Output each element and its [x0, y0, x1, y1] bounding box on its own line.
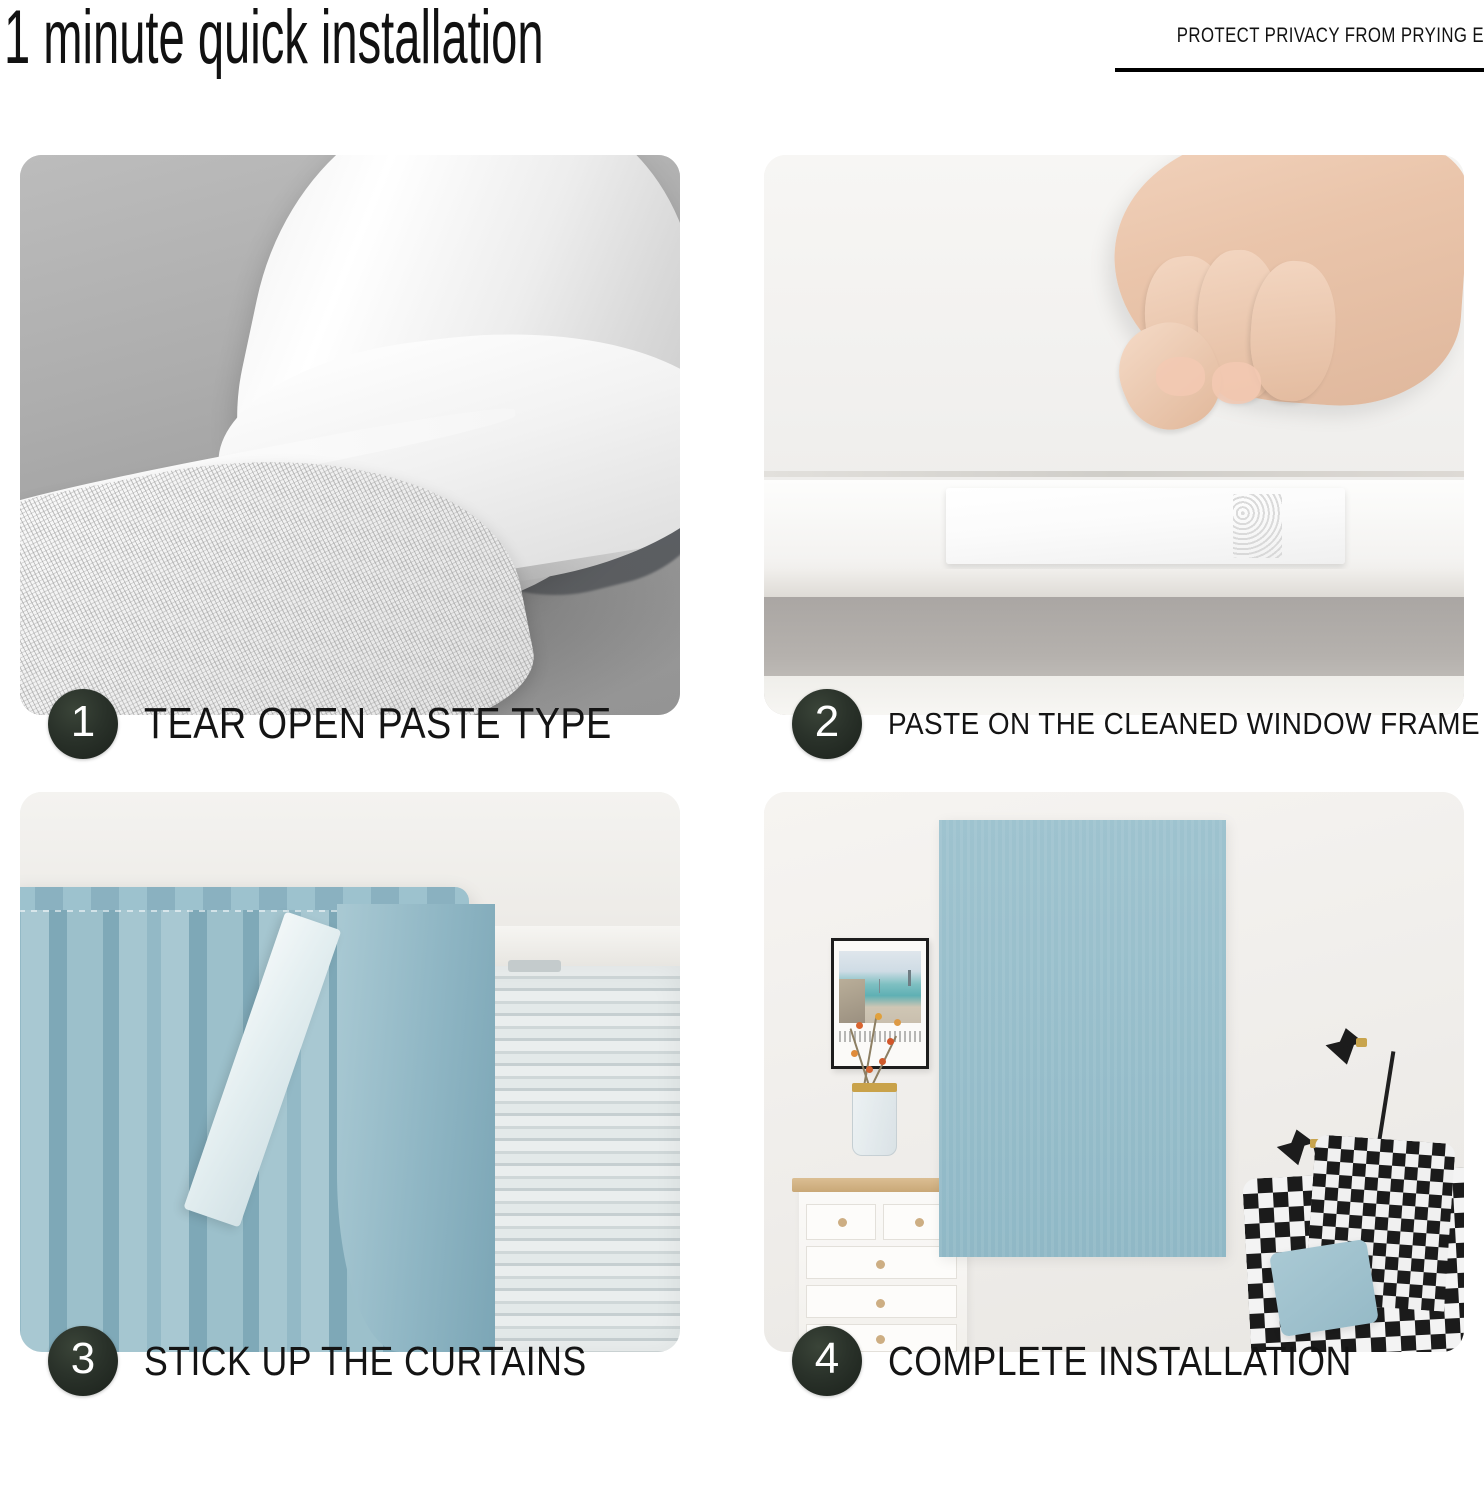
- header: 1 minute quick installation PROTECT PRIV…: [0, 0, 1484, 150]
- installed-blue-curtain: [939, 820, 1226, 1257]
- step-1-caption-row: 1 TEAR OPEN PASTE TYPE: [20, 695, 740, 753]
- vase-brass-ring: [852, 1083, 898, 1092]
- step-1-caption: TEAR OPEN PASTE TYPE: [144, 699, 612, 749]
- lamp-brass-joint-1: [1356, 1038, 1367, 1047]
- blind-clip: [508, 960, 561, 972]
- curtain-fold: [337, 904, 495, 1352]
- tagline-text: PROTECT PRIVACY FROM PRYING EYES: [1177, 24, 1484, 48]
- knob-1: [838, 1218, 847, 1227]
- step-card-4: 4 COMPLETE INSTALLATION: [764, 792, 1424, 1389]
- step-badge-1: 1: [48, 689, 118, 759]
- blue-throw-pillow: [1269, 1238, 1379, 1336]
- fingernail-1: [1156, 357, 1205, 396]
- step-card-3: 3 STICK UP THE CURTAINS: [20, 792, 680, 1389]
- tagline-divider: [1115, 68, 1484, 72]
- step-2-photo: [764, 155, 1464, 715]
- framed-artwork: [831, 938, 929, 1070]
- steps-grid: 1 TEAR OPEN PASTE TYPE 2 PASTE ON THE CL…: [20, 155, 1464, 1480]
- step-4-caption-row: 4 COMPLETE INSTALLATION: [764, 1332, 1484, 1390]
- step-1-photo: [20, 155, 680, 715]
- window-sill: [764, 569, 1464, 597]
- berry-4: [851, 1050, 858, 1057]
- step-4-caption: COMPLETE INSTALLATION: [888, 1338, 1352, 1385]
- step-3-photo: [20, 792, 680, 1352]
- velcro-strip: [946, 488, 1345, 564]
- knob-4: [876, 1299, 885, 1308]
- step-3-caption-row: 3 STICK UP THE CURTAINS: [20, 1332, 740, 1390]
- page-title: 1 minute quick installation: [4, 0, 544, 80]
- step-4-photo: [764, 792, 1464, 1352]
- tagline-block: PROTECT PRIVACY FROM PRYING EYES: [1100, 24, 1484, 48]
- berry-5: [879, 1058, 886, 1065]
- knob-3: [876, 1260, 885, 1269]
- berry-2: [875, 1013, 882, 1020]
- window-frame-edge: [764, 471, 1464, 477]
- velcro-strip-texture: [1233, 494, 1282, 558]
- step-card-1: 1 TEAR OPEN PASTE TYPE: [20, 155, 680, 752]
- step-badge-4: 4: [792, 1326, 862, 1396]
- berry-6: [894, 1019, 901, 1026]
- step-2-caption: PASTE ON THE CLEANED WINDOW FRAME: [888, 706, 1480, 742]
- glass-vase: [852, 1083, 898, 1156]
- fingernail-2: [1212, 362, 1261, 404]
- step-badge-2: 2: [792, 689, 862, 759]
- step-2-caption-row: 2 PASTE ON THE CLEANED WINDOW FRAME: [764, 695, 1484, 753]
- step-badge-3: 3: [48, 1326, 118, 1396]
- knob-2: [915, 1218, 924, 1227]
- step-card-2: 2 PASTE ON THE CLEANED WINDOW FRAME: [764, 155, 1424, 752]
- berry-1: [856, 1022, 863, 1029]
- step-3-caption: STICK UP THE CURTAINS: [144, 1338, 587, 1385]
